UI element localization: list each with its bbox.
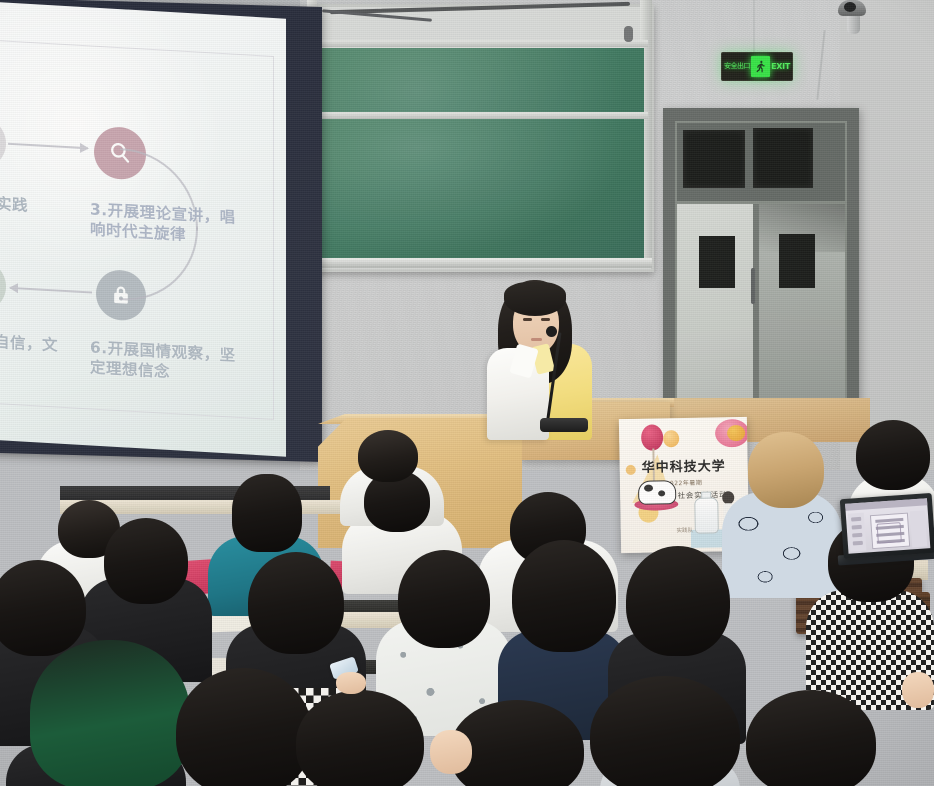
laptop-right-panel — [910, 510, 927, 547]
microphone-icon — [546, 326, 557, 337]
balloon-icon-yellow — [663, 430, 679, 447]
banner-organizer: 实践队 — [655, 525, 715, 534]
door-window-right — [779, 234, 815, 288]
transom-pane-right — [753, 128, 813, 188]
audience-hand-phone — [336, 672, 366, 694]
banner-university-name: 华中科技大学 — [620, 455, 748, 476]
audience-head-9 — [398, 550, 490, 648]
slide-text-bottom-left: 定文化自信，文化强音 — [0, 329, 66, 377]
projection-screen: 庆主题实践 3.开展理论宣讲，唱响时代主旋律 定文化自信，文化强音 6.开展国情… — [0, 0, 286, 456]
speaker-mouth — [531, 338, 542, 341]
lecture-hall-photo: 安全出口 EXIT — [0, 0, 934, 786]
transom-pane-left — [683, 130, 745, 188]
door-window-left — [699, 236, 735, 288]
chalkboard-upper-rail — [316, 40, 648, 47]
audience-head-10 — [512, 540, 616, 652]
laptop[interactable] — [840, 493, 934, 567]
audience-head-5 — [358, 430, 418, 482]
audience-head-13 — [296, 690, 424, 786]
door-leaf-left[interactable] — [677, 204, 755, 410]
running-man-icon — [751, 56, 770, 77]
audience-head-12 — [176, 668, 312, 786]
banner-illustration-animal — [638, 480, 676, 505]
board-slide-knob — [624, 26, 633, 42]
audience-head-7 — [104, 518, 188, 604]
slide-text-top-right: 3.开展理论宣讲，唱响时代主旋律 — [90, 199, 240, 249]
classroom-door[interactable] — [663, 108, 859, 410]
audience-head-3 — [232, 474, 302, 552]
audience-head-15 — [590, 676, 740, 786]
projection-screen-frame: 庆主题实践 3.开展理论宣讲，唱响时代主旋律 定文化自信，文化强音 6.开展国情… — [0, 0, 322, 462]
security-camera-icon — [838, 0, 868, 30]
speaker-eye-left — [523, 318, 532, 321]
audience-head-6 — [0, 560, 86, 656]
audience-head-farright — [856, 420, 930, 490]
balloon-icon-red — [641, 424, 663, 450]
audience-head-11 — [626, 546, 730, 656]
chalkboard-lower-panel — [320, 118, 644, 266]
chalk-tray — [316, 258, 652, 268]
audience-head-green-hair — [30, 640, 190, 786]
exit-sign-english-label: EXIT — [771, 62, 790, 71]
laptop-document-stamp — [877, 522, 902, 544]
door-mullion — [753, 204, 759, 410]
door-handle[interactable] — [751, 268, 755, 304]
speaker-eye-right — [541, 318, 550, 321]
audience-hand-front — [430, 730, 472, 774]
audience-head-blonde — [748, 432, 824, 508]
exit-sign-chinese-label: 安全出口 — [724, 63, 750, 70]
audience-head-16 — [746, 690, 876, 786]
exit-sign-cable — [753, 0, 755, 54]
audience-head-8 — [248, 552, 344, 654]
microphone-base — [540, 418, 588, 432]
speaker-fringe — [504, 282, 566, 316]
exit-sign: 安全出口 EXIT — [721, 52, 793, 81]
laptop-screen[interactable] — [845, 498, 930, 554]
audience-hand-right — [902, 672, 934, 708]
laptop-sidebar — [848, 513, 867, 552]
laptop-browser-tabbar — [845, 498, 927, 511]
chalkboard-mid-rail — [316, 112, 648, 119]
